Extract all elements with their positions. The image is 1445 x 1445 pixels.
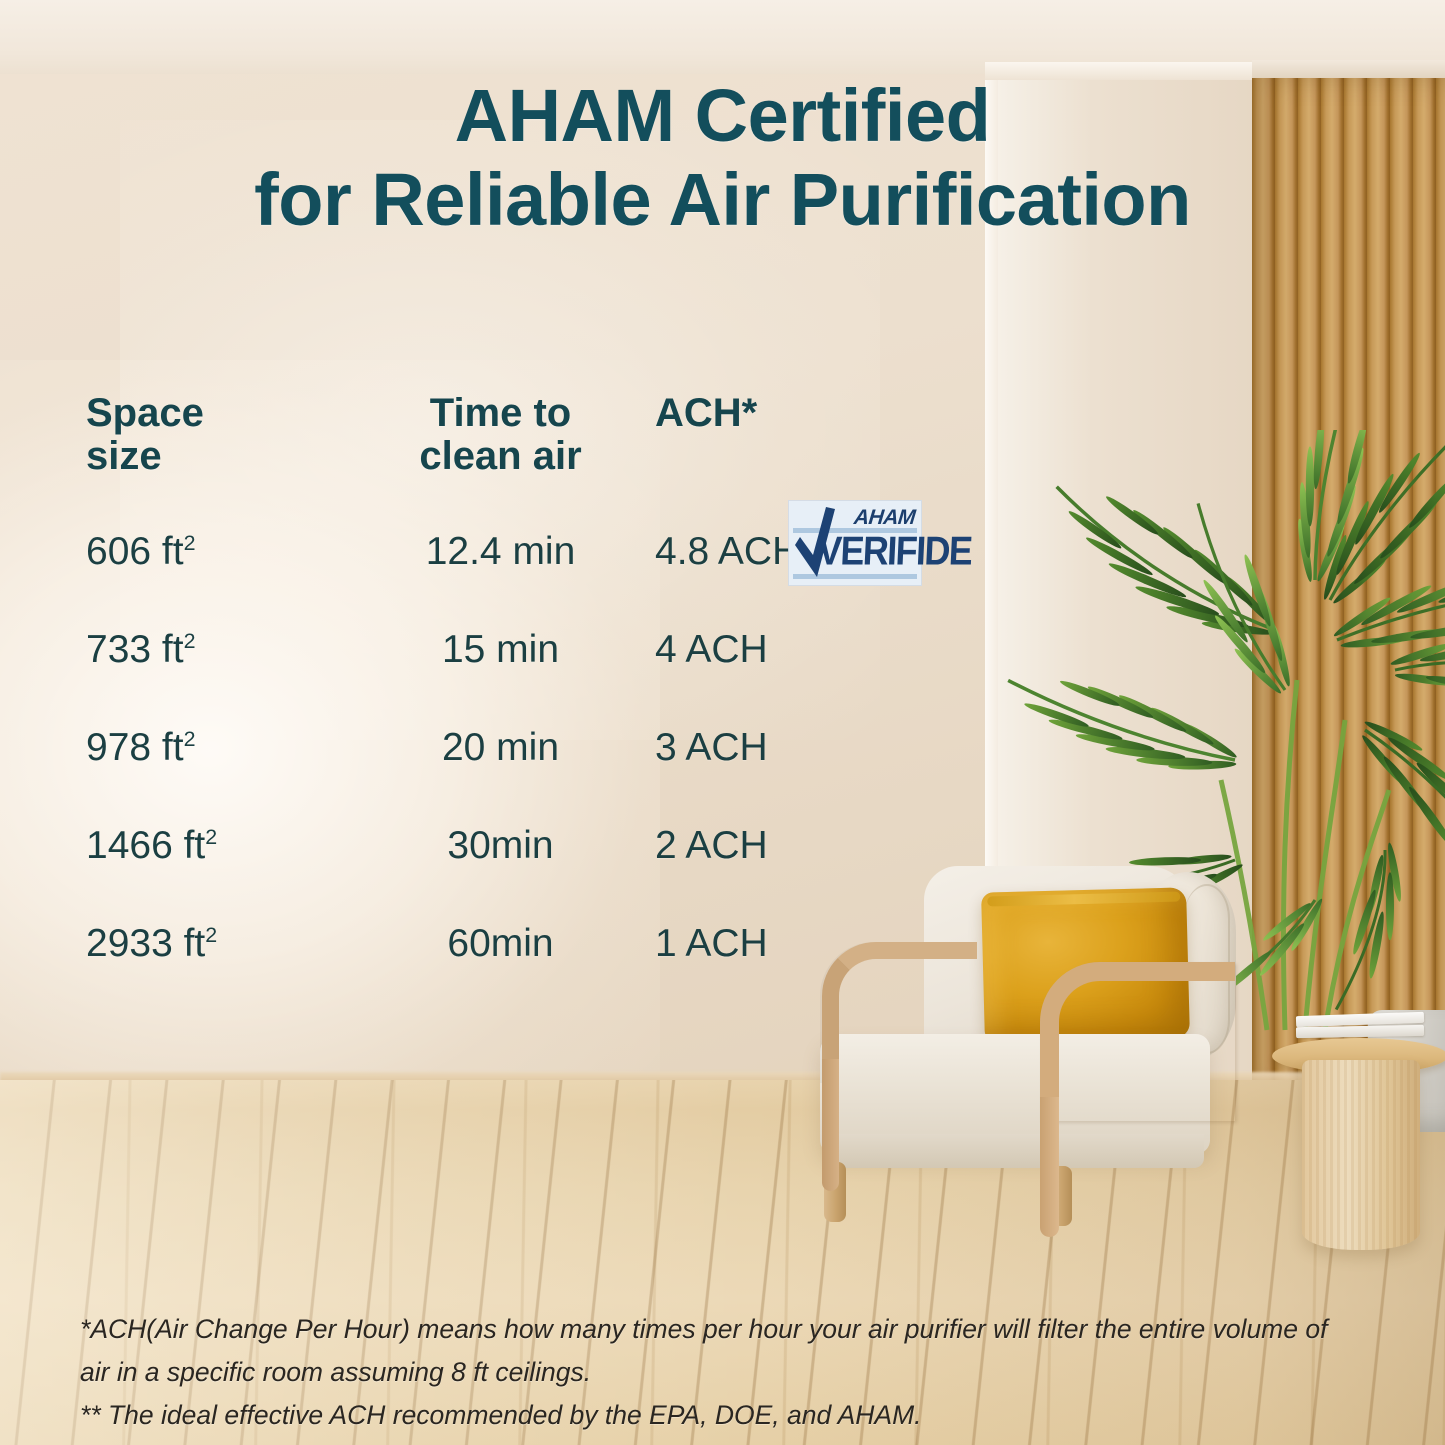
- side-table: [1272, 1028, 1445, 1260]
- column-header-space-size-line2: size: [86, 435, 358, 478]
- cell-space-size-superscript: 2: [184, 531, 196, 555]
- book-bottom: [1296, 1025, 1424, 1038]
- cell-space-size-superscript: 2: [205, 825, 217, 849]
- cell-space-size-value: 733 ft: [86, 628, 184, 671]
- column-header-space-size: Space size: [78, 392, 358, 478]
- promo-image: AHAM Certified for Reliable Air Purifica…: [0, 0, 1445, 1445]
- headline-line-1: AHAM Certified: [455, 74, 991, 157]
- table-row: 978 ft220 min3 ACH: [78, 726, 958, 770]
- page-title: AHAM Certified for Reliable Air Purifica…: [0, 74, 1445, 243]
- cell-time-to-clean-air: 60min: [358, 922, 643, 966]
- cell-time-to-clean-air: 12.4 min: [358, 530, 643, 574]
- footnote-line-1: *ACH(Air Change Per Hour) means how many…: [80, 1308, 1390, 1351]
- row-spacer: [78, 868, 958, 922]
- cell-space-size-value: 978 ft: [86, 726, 184, 769]
- cell-space-size: 1466 ft2: [78, 824, 358, 868]
- cell-ach: 1 ACH: [643, 922, 955, 966]
- column-header-ach: ACH*: [643, 392, 955, 478]
- column-header-space-size-line1: Space: [86, 392, 358, 435]
- row-spacer: [78, 672, 958, 726]
- cell-ach: 2 ACH: [643, 824, 955, 868]
- cell-space-size: 606 ft2: [78, 530, 358, 574]
- footnotes: *ACH(Air Change Per Hour) means how many…: [80, 1308, 1390, 1438]
- badge-aham-text: AHAM: [853, 506, 917, 530]
- cell-space-size: 978 ft2: [78, 726, 358, 770]
- table-row: 2933 ft260min1 ACH: [78, 922, 958, 966]
- cell-space-size-value: 2933 ft: [86, 922, 205, 965]
- chair-arm-right: [1040, 962, 1235, 1121]
- cell-space-size-value: 606 ft: [86, 530, 184, 573]
- cell-time-to-clean-air: 15 min: [358, 628, 643, 672]
- table-header-row: Space size Time to clean air ACH*: [78, 392, 958, 478]
- column-header-time: Time to clean air: [358, 392, 643, 478]
- headline-line-2: for Reliable Air Purification: [0, 158, 1445, 242]
- cell-space-size-superscript: 2: [184, 727, 196, 751]
- badge-verifide-text: VERIFIDE: [817, 531, 972, 571]
- table-row: 1466 ft230min2 ACH: [78, 824, 958, 868]
- aham-verifide-badge: AHAM VERIFIDE: [789, 501, 921, 585]
- cell-ach: 4 ACH: [643, 628, 955, 672]
- cell-space-size: 733 ft2: [78, 628, 358, 672]
- column-header-time-line1: Time to: [358, 392, 643, 435]
- footnote-line-2: air in a specific room assuming 8 ft cei…: [80, 1351, 1390, 1394]
- cell-time-to-clean-air: 30min: [358, 824, 643, 868]
- cell-space-size-superscript: 2: [184, 629, 196, 653]
- side-table-base: [1302, 1060, 1420, 1250]
- column-header-time-line2: clean air: [358, 435, 643, 478]
- footnote-line-3: ** The ideal effective ACH recommended b…: [80, 1394, 1390, 1437]
- ach-table: Space size Time to clean air ACH* 606 ft…: [78, 392, 958, 966]
- row-spacer: [78, 770, 958, 824]
- table-body: 606 ft212.4 min4.8 ACH**733 ft215 min4 A…: [78, 530, 958, 966]
- cell-space-size-superscript: 2: [205, 923, 217, 947]
- cell-time-to-clean-air: 20 min: [358, 726, 643, 770]
- table-row: 733 ft215 min4 ACH: [78, 628, 958, 672]
- cell-space-size: 2933 ft2: [78, 922, 358, 966]
- cell-space-size-value: 1466 ft: [86, 824, 205, 867]
- aham-verifide-badge-inner: AHAM VERIFIDE: [789, 501, 921, 585]
- cell-ach: 3 ACH: [643, 726, 955, 770]
- chair-skirt: [826, 1134, 1204, 1168]
